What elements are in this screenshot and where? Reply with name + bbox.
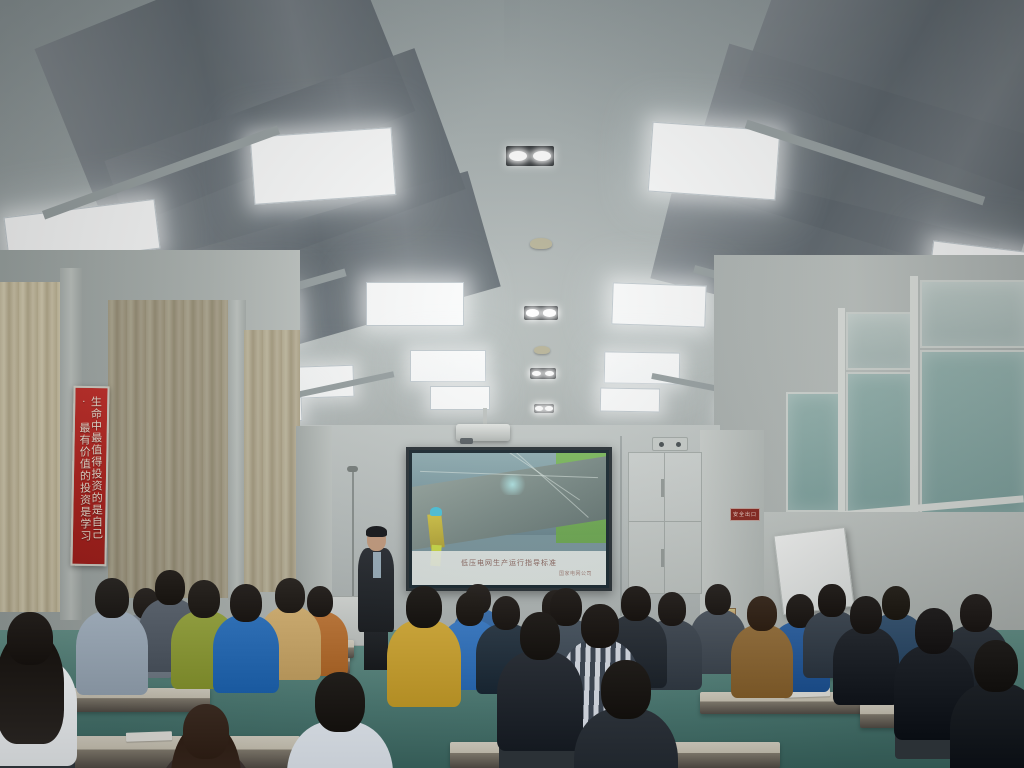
audience-member <box>387 586 461 714</box>
audience-member <box>497 612 582 760</box>
audience-head <box>601 660 651 719</box>
ceiling-light-panel <box>250 127 396 205</box>
audience-head <box>7 612 52 665</box>
audience-torso <box>213 615 280 693</box>
curtain-left-near <box>108 300 230 598</box>
projection-screen: 低压电网生产运行指导标准 国家电网公司 <box>406 447 612 591</box>
cabinet-seam <box>629 521 701 522</box>
audience-head <box>230 584 262 622</box>
slide-worker-helmet <box>430 507 442 516</box>
audience-head <box>315 672 366 732</box>
curtain-left-far <box>0 282 66 612</box>
spotlight-bulb-icon <box>509 151 527 161</box>
audience-member <box>950 640 1024 768</box>
audience-head <box>406 586 441 628</box>
ceiling-light-panel <box>430 386 490 410</box>
audience-head <box>747 596 777 631</box>
slide-caption-sub: 国家电网公司 <box>559 570 592 577</box>
window-glass-panel <box>920 350 1024 520</box>
audience-member <box>731 596 793 704</box>
smoke-detector-icon <box>534 346 550 354</box>
slide-caption: 低压电网生产运行指导标准 国家电网公司 <box>412 551 606 585</box>
audience-head <box>915 608 954 654</box>
presenter-legs <box>364 626 388 670</box>
audience-head <box>520 612 561 660</box>
ceiling-spotlight <box>524 306 558 320</box>
ceiling-light-panel <box>611 282 706 327</box>
window-glass-panel <box>846 372 916 516</box>
audience-torso <box>833 627 900 705</box>
audience-head <box>183 704 229 759</box>
spotlight-bulb-icon <box>532 371 542 377</box>
ceiling-light-panel <box>366 282 464 326</box>
cabinet-seam <box>664 453 665 593</box>
storage-cabinet[interactable] <box>628 452 702 594</box>
ceiling-spotlight <box>530 368 556 379</box>
audience-torso <box>76 611 147 695</box>
audience-head <box>705 584 731 615</box>
wall-speaker-unit <box>652 437 688 451</box>
speaker-vent-icon <box>676 442 681 447</box>
window-glass-panel-upper <box>846 312 916 370</box>
presenter-hair <box>366 526 387 537</box>
classroom-photo: 生命中最值得投资的是自己 · 最有价值的投资是学习 安全出口 <box>0 0 1024 768</box>
audience-head <box>275 578 305 613</box>
audience-member <box>0 612 77 768</box>
audience-head <box>974 640 1018 692</box>
smoke-detector-icon <box>530 238 552 249</box>
audience-torso <box>950 683 1024 768</box>
audience-torso <box>387 620 461 706</box>
audience-head <box>850 596 882 634</box>
audience-member <box>287 672 393 768</box>
spotlight-bulb-icon <box>535 406 543 411</box>
spotlight-bulb-icon <box>545 406 553 411</box>
ceiling-spotlight <box>506 146 554 166</box>
audience-head <box>581 604 618 648</box>
audience-member <box>76 578 147 702</box>
audience-torso <box>731 625 793 698</box>
audience-member <box>213 584 280 700</box>
microphone-icon <box>347 466 358 472</box>
motivational-banner: 生命中最值得投资的是自己 · 最有价值的投资是学习 <box>70 386 109 567</box>
exit-sign: 安全出口 <box>730 508 760 521</box>
audience-member <box>574 660 678 768</box>
projected-slide: 低压电网生产运行指导标准 国家电网公司 <box>412 453 606 585</box>
window-glass-panel <box>786 392 842 512</box>
microphone-stand <box>352 470 354 598</box>
audience-member <box>158 704 255 768</box>
spotlight-bulb-icon <box>526 309 539 316</box>
slide-caption-main: 低压电网生产运行指导标准 <box>461 558 557 568</box>
spotlight-bulb-icon <box>543 309 556 316</box>
spotlight-bulb-icon <box>533 151 551 161</box>
spotlight-bulb-icon <box>545 371 555 377</box>
ceiling-light-panel <box>410 350 486 382</box>
slide-light-flare <box>497 474 528 495</box>
curtain-left-inner <box>244 330 300 592</box>
banner-text: 生命中最值得投资的是自己 · 最有价值的投资是学习 <box>78 396 103 564</box>
ceiling-light-panel <box>600 387 660 412</box>
cabinet-handle[interactable] <box>661 479 664 497</box>
speaker-vent-icon <box>659 442 664 447</box>
audience-torso <box>497 651 582 751</box>
ceiling-spotlight <box>534 404 554 413</box>
audience-member <box>833 596 900 712</box>
presenter-shirt <box>373 552 381 578</box>
projector-lens-icon <box>460 438 473 444</box>
exit-sign-label: 安全出口 <box>733 511 757 518</box>
audience-head <box>95 578 129 618</box>
window-glass-panel-upper <box>920 280 1024 348</box>
cabinet-handle[interactable] <box>661 549 664 567</box>
